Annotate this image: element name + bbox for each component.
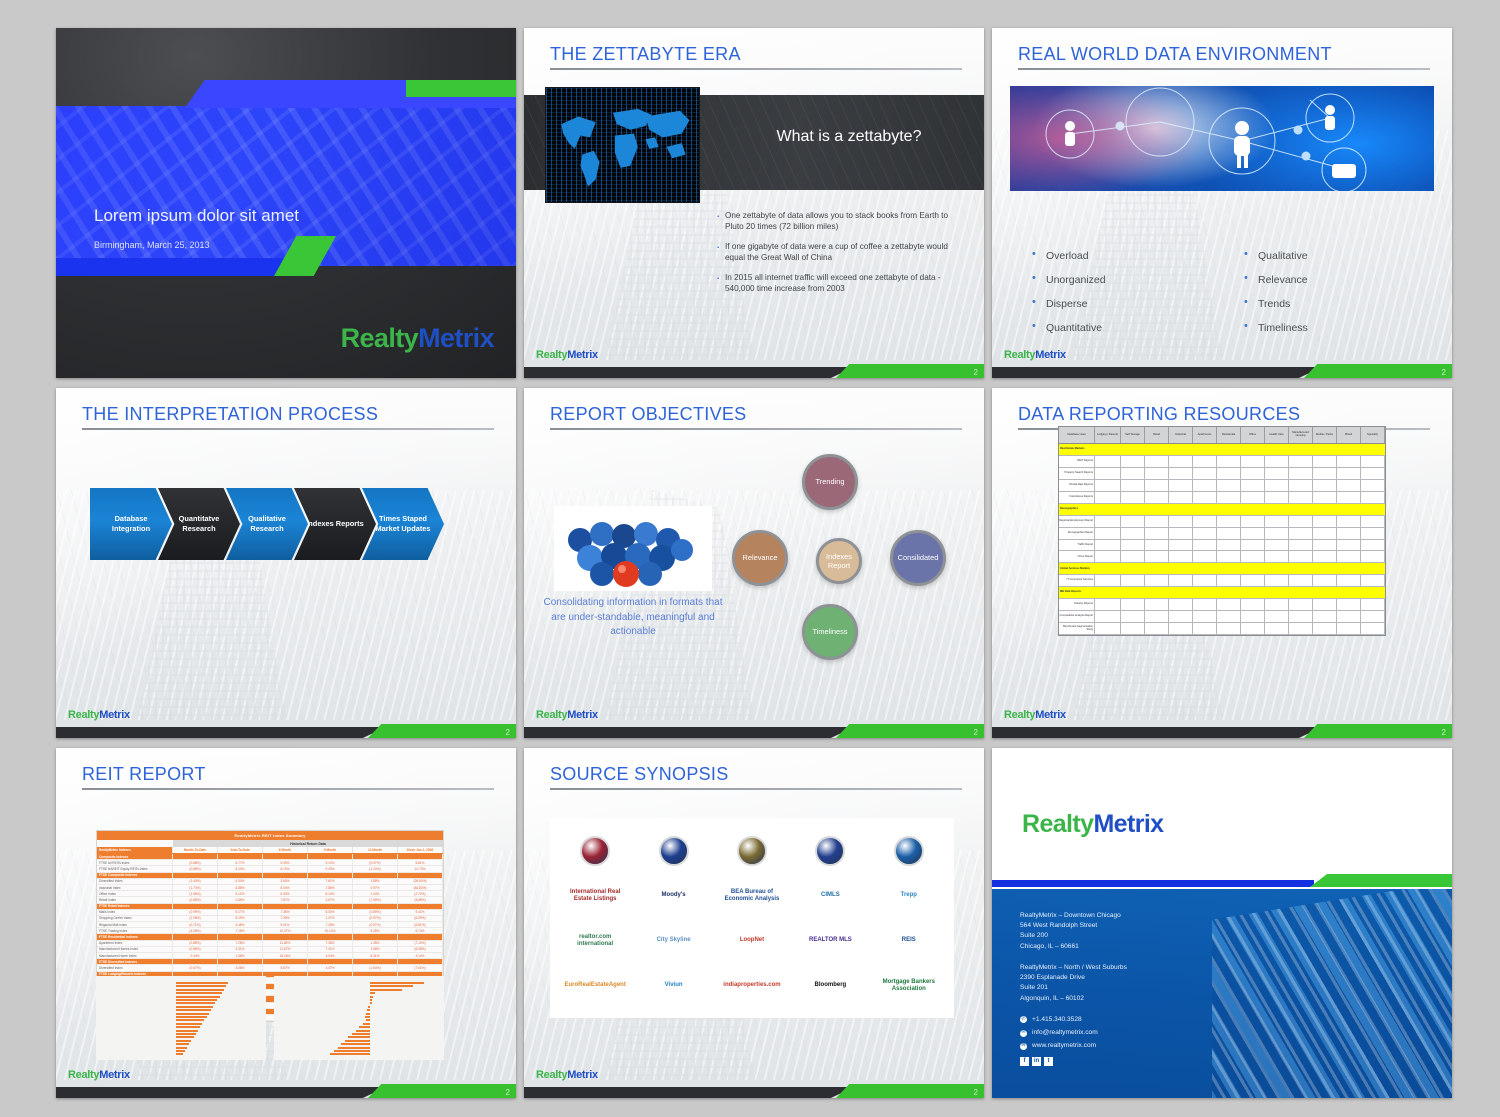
- table-cell[interactable]: [1121, 516, 1145, 527]
- table-cell[interactable]: [1217, 540, 1241, 551]
- table-cell[interactable]: [1337, 611, 1361, 622]
- office-address-suburbs: RealtyMetrix – North / West Suburbs 2390…: [1020, 963, 1127, 1004]
- column-header: Retail: [1145, 427, 1169, 443]
- table-cell[interactable]: [1313, 528, 1337, 539]
- row-label: REIT Reports: [1059, 456, 1095, 467]
- table-cell[interactable]: [1361, 551, 1385, 562]
- phone-icon: ✆: [1020, 1016, 1027, 1023]
- table-cell[interactable]: [1145, 528, 1169, 539]
- table-cell[interactable]: [1289, 528, 1313, 539]
- chart-bar: [370, 989, 402, 991]
- page-number: 2: [506, 1088, 510, 1097]
- world-map-image: [545, 87, 700, 203]
- title-rule: [1018, 68, 1430, 70]
- table-cell[interactable]: [1265, 599, 1289, 610]
- bubble-label: Indexes Report: [819, 552, 859, 571]
- slide-title-text: THE ZETTABYTE ERA: [550, 44, 962, 65]
- table-cell[interactable]: [1241, 492, 1265, 503]
- table-row[interactable]: MB Data Reports: [1059, 587, 1385, 599]
- source-logo: [562, 831, 628, 871]
- footer-logo-metrix: Metrix: [567, 349, 598, 361]
- page-number: 2: [974, 368, 978, 377]
- table-cell[interactable]: [1337, 551, 1361, 562]
- row-label: Crime Report: [1059, 551, 1095, 562]
- office-street: 2390 Esplanade Drive: [1020, 973, 1127, 983]
- office-suite: Suite 201: [1020, 983, 1127, 993]
- table-cell[interactable]: [1265, 528, 1289, 539]
- source-logo: City Skyline: [641, 921, 707, 961]
- bubble-relevance[interactable]: Relevance: [732, 530, 788, 586]
- table-cell[interactable]: [1169, 492, 1193, 503]
- twitter-icon[interactable]: t: [1044, 1057, 1053, 1066]
- table-cell[interactable]: [1145, 456, 1169, 467]
- column-header: Self Storage: [1121, 427, 1145, 443]
- office-citystate: Algonquin, IL – 60102: [1020, 994, 1127, 1004]
- table-cell[interactable]: [1337, 468, 1361, 479]
- table-cell[interactable]: [1337, 456, 1361, 467]
- green-wedge-accent: [1310, 874, 1452, 887]
- table-cell[interactable]: [1169, 575, 1193, 586]
- slide-data-reporting-resources[interactable]: DATA REPORTING RESOURCES Database UsesLo…: [992, 388, 1452, 738]
- table-cell[interactable]: [1145, 575, 1169, 586]
- table-cell[interactable]: [1217, 599, 1241, 610]
- table-row[interactable]: Crime Report: [1059, 551, 1385, 563]
- table-cell[interactable]: [1265, 611, 1289, 622]
- table-cell[interactable]: [1289, 623, 1313, 634]
- footer-dark-wedge: [524, 727, 854, 738]
- slide-title[interactable]: Lorem ipsum dolor sit amet Birmingham, M…: [56, 28, 516, 378]
- table-cell[interactable]: [1289, 492, 1313, 503]
- title-blue-accent-bottom: [56, 258, 308, 276]
- table-cell[interactable]: [1313, 480, 1337, 491]
- table-cell[interactable]: [1337, 528, 1361, 539]
- page-number: 2: [974, 1088, 978, 1097]
- table-cell[interactable]: [1241, 575, 1265, 586]
- page-number: 2: [506, 728, 510, 737]
- source-logo: BEA Bureau of Economic Analysis: [719, 876, 785, 916]
- attribute-columns: Overload Unorganized Disperse Quantitati…: [1032, 250, 1412, 346]
- table-header-row: Database UsesLodging / ResortsSelf Stora…: [1059, 427, 1385, 444]
- table-cell[interactable]: [1337, 540, 1361, 551]
- table-cell[interactable]: [1145, 516, 1169, 527]
- table-cell[interactable]: [1337, 623, 1361, 634]
- slide-footer-bar: 2: [56, 1084, 516, 1098]
- slide-footer-bar: 2: [992, 364, 1452, 378]
- chart-bar: [176, 996, 220, 998]
- contact-website[interactable]: ⌘ www.realtymetrix.com: [1020, 1041, 1127, 1051]
- chart-bar: [176, 985, 226, 987]
- table-cell[interactable]: [1361, 611, 1385, 622]
- table-cell[interactable]: [1217, 575, 1241, 586]
- footer-logo: RealtyMetrix: [1004, 709, 1066, 721]
- table-cell[interactable]: [1241, 551, 1265, 562]
- table-cell[interactable]: [1145, 468, 1169, 479]
- process-step-label: Database Integration: [90, 514, 172, 534]
- bar-chart-right: [274, 976, 444, 1060]
- office-street: 564 West Randolph Street: [1020, 921, 1127, 931]
- slide-footer-bar: 2: [56, 724, 516, 738]
- brand-logo-metrix: Metrix: [418, 323, 494, 353]
- chart-bar: [176, 992, 222, 994]
- list-item: Relevance: [1244, 274, 1412, 286]
- table-row[interactable]: Regional Employment Report: [1059, 516, 1385, 528]
- table-cell[interactable]: [1169, 480, 1193, 491]
- table-cell[interactable]: [1241, 528, 1265, 539]
- table-cell[interactable]: [1121, 599, 1145, 610]
- table-cell[interactable]: [1289, 480, 1313, 491]
- table-cell[interactable]: [1217, 456, 1241, 467]
- table-cell[interactable]: [1361, 468, 1385, 479]
- table-cell[interactable]: [1289, 456, 1313, 467]
- table-cell[interactable]: [1095, 528, 1121, 539]
- chart-bar: [176, 1047, 187, 1049]
- table-cell[interactable]: [1121, 528, 1145, 539]
- list-item: Trends: [1244, 298, 1412, 310]
- footer-green-wedge: [368, 1084, 516, 1098]
- list-item: One zettabyte of data allows you to stac…: [716, 210, 964, 232]
- table-cell[interactable]: [1193, 611, 1217, 622]
- table-cell[interactable]: [1265, 540, 1289, 551]
- table-cell[interactable]: [1145, 623, 1169, 634]
- slide-real-world-data-environment[interactable]: REAL WORLD DATA ENVIRONMENT: [992, 28, 1452, 378]
- contact-phone[interactable]: ✆ +1.415.340.3528: [1020, 1015, 1127, 1025]
- table-cell[interactable]: [1361, 480, 1385, 491]
- table-cell[interactable]: [1289, 468, 1313, 479]
- bubble-indexes-report[interactable]: Indexes Report: [816, 538, 862, 584]
- table-cell[interactable]: [1193, 528, 1217, 539]
- slide-contact[interactable]: RealtyMetrix RealtyMetrix – Downtown Chi…: [992, 748, 1452, 1098]
- source-logo: Viviun: [641, 966, 707, 1006]
- row-label: Global Services Markets: [1059, 563, 1095, 574]
- footer-dark-wedge: [524, 367, 854, 378]
- table-cell[interactable]: [1265, 468, 1289, 479]
- row-label: Demographics: [1059, 504, 1095, 515]
- table-cell[interactable]: [1121, 551, 1145, 562]
- row-label: Demographics Report: [1059, 528, 1095, 539]
- facebook-icon[interactable]: f: [1020, 1057, 1029, 1066]
- table-cell[interactable]: [1217, 528, 1241, 539]
- table-row[interactable]: Demographics: [1059, 504, 1385, 516]
- table-cell[interactable]: [1145, 480, 1169, 491]
- table-cell[interactable]: [1265, 575, 1289, 586]
- table-row[interactable]: Traffic Report: [1059, 540, 1385, 552]
- table-cell[interactable]: [1241, 540, 1265, 551]
- table-cell[interactable]: [1095, 456, 1121, 467]
- slide-zettabyte-era[interactable]: THE ZETTABYTE ERA What is a zettabyte? O…: [524, 28, 984, 378]
- table-cell[interactable]: [1193, 540, 1217, 551]
- column-header: Since Jan 1, 2008: [398, 847, 443, 853]
- table-cell[interactable]: [1361, 599, 1385, 610]
- page-subtitle: Birmingham, March 25, 2013: [94, 240, 210, 250]
- brand-logo-realty: Realty: [341, 323, 418, 353]
- table-cell[interactable]: [1145, 599, 1169, 610]
- table-cell[interactable]: [1241, 456, 1265, 467]
- attribute-column-right: Qualitative Relevance Trends Timeliness: [1244, 250, 1412, 346]
- table-cell[interactable]: [1193, 516, 1217, 527]
- table-cell[interactable]: [1313, 611, 1337, 622]
- chart-bar: [367, 1009, 370, 1011]
- table-cell[interactable]: [1265, 551, 1289, 562]
- title-rule: [82, 788, 494, 790]
- table-cell[interactable]: [1313, 492, 1337, 503]
- slide-report-objectives[interactable]: REPORT OBJECTIVES Consolidating informat…: [524, 388, 984, 738]
- title-rule: [550, 788, 962, 790]
- resources-matrix-table[interactable]: Database UsesLodging / ResortsSelf Stora…: [1058, 426, 1386, 636]
- table-cell[interactable]: [1265, 623, 1289, 634]
- process-step-1[interactable]: Database Integration: [90, 488, 172, 560]
- table-cell[interactable]: [1241, 599, 1265, 610]
- table-cell[interactable]: [1217, 623, 1241, 634]
- slide-source-synopsis[interactable]: SOURCE SYNOPSIS International Real Estat…: [524, 748, 984, 1098]
- table-cell[interactable]: [1169, 611, 1193, 622]
- table-cell[interactable]: [1361, 528, 1385, 539]
- table-cell[interactable]: [1169, 551, 1193, 562]
- table-cell[interactable]: [1121, 468, 1145, 479]
- table-row[interactable]: Foreclosure Reports: [1059, 492, 1385, 504]
- table-cell[interactable]: [1337, 480, 1361, 491]
- table-row[interactable]: IT Commerce Services: [1059, 575, 1385, 587]
- table-cell[interactable]: [1121, 456, 1145, 467]
- process-step-label: Indexes Reports: [300, 519, 370, 529]
- slide-deck-grid: Lorem ipsum dolor sit amet Birmingham, M…: [0, 0, 1500, 1098]
- brand-logo-metrix: Metrix: [1093, 810, 1163, 838]
- row-label: Comparative Analysis Report: [1059, 611, 1095, 622]
- table-cell[interactable]: [1217, 480, 1241, 491]
- brand-logo: RealtyMetrix: [1022, 810, 1163, 839]
- table-cell[interactable]: [1145, 492, 1169, 503]
- table-cell[interactable]: [1193, 623, 1217, 634]
- footer-logo-realty: Realty: [68, 1069, 99, 1081]
- footer-logo-realty: Realty: [1004, 349, 1035, 361]
- table-cell[interactable]: [1313, 575, 1337, 586]
- table-cell[interactable]: [1337, 599, 1361, 610]
- table-row[interactable]: Global Services Markets: [1059, 563, 1385, 575]
- table-cell[interactable]: [1121, 623, 1145, 634]
- office-citystate: Chicago, IL – 60661: [1020, 942, 1127, 952]
- title-rule: [550, 428, 962, 430]
- chart-bar: [176, 1009, 211, 1011]
- table-cell[interactable]: [1095, 575, 1121, 586]
- table-cell[interactable]: [1289, 516, 1313, 527]
- table-cell[interactable]: [1193, 480, 1217, 491]
- table-cell[interactable]: [1169, 456, 1193, 467]
- table-cell[interactable]: [1193, 456, 1217, 467]
- table-cell[interactable]: [1289, 540, 1313, 551]
- chart-bar: [370, 985, 413, 987]
- table-cell[interactable]: [1169, 516, 1193, 527]
- column-header: 9 Month: [308, 847, 353, 853]
- chart-bar: [176, 1033, 196, 1035]
- brand-logo-realty: Realty: [1022, 810, 1093, 838]
- table-cell[interactable]: [1265, 492, 1289, 503]
- table-cell[interactable]: [1121, 492, 1145, 503]
- table-cell[interactable]: [1361, 575, 1385, 586]
- table-row[interactable]: Property Search Reports: [1059, 468, 1385, 480]
- table-cell[interactable]: [1241, 516, 1265, 527]
- table-cell[interactable]: [1217, 492, 1241, 503]
- table-cell[interactable]: [1145, 611, 1169, 622]
- contact-email[interactable]: ✉ info@realtymetrix.com: [1020, 1028, 1127, 1038]
- table-cell[interactable]: [1361, 516, 1385, 527]
- table-cell[interactable]: [1313, 468, 1337, 479]
- bubble-trending[interactable]: Trending: [802, 454, 858, 510]
- chart-bar: [370, 1002, 372, 1004]
- table-cell[interactable]: [1169, 623, 1193, 634]
- table-row[interactable]: Real Estate Markets: [1059, 444, 1385, 456]
- table-cell[interactable]: [1241, 611, 1265, 622]
- source-logo: Mortgage Bankers Association: [876, 966, 942, 1006]
- table-cell[interactable]: [1095, 551, 1121, 562]
- headline-question: What is a zettabyte?: [724, 128, 974, 146]
- table-cell[interactable]: [1169, 540, 1193, 551]
- chart-bar: [176, 982, 228, 984]
- table-cell[interactable]: [1241, 623, 1265, 634]
- table-cell[interactable]: [1121, 540, 1145, 551]
- footer-logo-metrix: Metrix: [567, 709, 598, 721]
- table-cell[interactable]: [1313, 456, 1337, 467]
- table-cell[interactable]: [1193, 551, 1217, 562]
- footer-logo: RealtyMetrix: [536, 1069, 598, 1081]
- bubble-label: Trending: [816, 477, 845, 486]
- slide-reit-report[interactable]: REIT REPORT RealtyMetrix REIT Index Summ…: [56, 748, 516, 1098]
- table-cell[interactable]: [1145, 551, 1169, 562]
- table-cell[interactable]: [1361, 540, 1385, 551]
- slide-interpretation-process[interactable]: THE INTERPRETATION PROCESS Database Inte…: [56, 388, 516, 738]
- footer-logo-realty: Realty: [536, 709, 567, 721]
- column-header: Year-To-Date: [218, 847, 263, 853]
- table-cell[interactable]: [1361, 492, 1385, 503]
- chart-bar: [341, 1043, 370, 1045]
- table-cell[interactable]: [1337, 516, 1361, 527]
- table-cell[interactable]: [1265, 516, 1289, 527]
- table-cell[interactable]: [1217, 468, 1241, 479]
- source-logo: CIMLS: [797, 876, 863, 916]
- table-cell[interactable]: [1217, 611, 1241, 622]
- table-cell[interactable]: [1217, 551, 1241, 562]
- table-cell[interactable]: [1313, 551, 1337, 562]
- contact-email-text: info@realtymetrix.com: [1032, 1028, 1098, 1038]
- table-cell[interactable]: [1193, 492, 1217, 503]
- table-cell[interactable]: [1095, 516, 1121, 527]
- chart-bar: [345, 1040, 370, 1042]
- bubble-timeliness[interactable]: Timeliness: [802, 604, 858, 660]
- chart-bar: [368, 1006, 370, 1008]
- footer-logo: RealtyMetrix: [536, 709, 598, 721]
- page-number: 2: [1442, 368, 1446, 377]
- source-logo: REALTOR MLS: [797, 921, 863, 961]
- table-cell[interactable]: [1095, 623, 1121, 634]
- footer-logo-metrix: Metrix: [567, 1069, 598, 1081]
- chart-bar: [334, 1050, 370, 1052]
- table-cell[interactable]: [1361, 623, 1385, 634]
- table-cell[interactable]: [1289, 575, 1313, 586]
- table-cell[interactable]: [1095, 611, 1121, 622]
- table-cell[interactable]: [1217, 516, 1241, 527]
- table-cell[interactable]: [1241, 480, 1265, 491]
- table-cell[interactable]: [1241, 468, 1265, 479]
- chart-bar: [365, 1016, 370, 1018]
- social-links: f in t: [1020, 1057, 1127, 1066]
- title-green-accent-top: [406, 80, 516, 97]
- table-cell[interactable]: [1313, 599, 1337, 610]
- table-cell[interactable]: [1313, 623, 1337, 634]
- chart-bar: [370, 982, 424, 984]
- glass-building-image: [1212, 889, 1452, 1098]
- chart-bar: [176, 1016, 207, 1018]
- column-header: Manufactured Housing: [1289, 427, 1313, 443]
- chart-bar: [176, 1050, 185, 1052]
- table-row[interactable]: Rental Rate Reports: [1059, 480, 1385, 492]
- list-item: In 2015 all internet traffic will exceed…: [716, 272, 964, 294]
- agency-seal-icon: [580, 836, 610, 866]
- table-row[interactable]: Demographics Report: [1059, 528, 1385, 540]
- office-name: RealtyMetrix – Downtown Chicago: [1020, 911, 1127, 921]
- footer-dark-wedge: [992, 727, 1322, 738]
- table-cell[interactable]: [1095, 492, 1121, 503]
- table-cell[interactable]: [1169, 468, 1193, 479]
- table-cell[interactable]: [1145, 540, 1169, 551]
- table-cell[interactable]: [1095, 599, 1121, 610]
- bubble-consilidated[interactable]: Consilidated: [890, 530, 946, 586]
- chart-bar: [330, 1053, 370, 1055]
- table-cell[interactable]: [1361, 456, 1385, 467]
- list-item: Quantitative: [1032, 322, 1200, 334]
- footer-logo-metrix: Metrix: [1035, 349, 1066, 361]
- table-cell[interactable]: [1313, 540, 1337, 551]
- linkedin-icon[interactable]: in: [1032, 1057, 1041, 1066]
- table-cell[interactable]: [1193, 575, 1217, 586]
- table-cell[interactable]: [1095, 468, 1121, 479]
- table-cell[interactable]: [1193, 468, 1217, 479]
- column-header: Mixed: [1337, 427, 1361, 443]
- table-cell[interactable]: [1169, 528, 1193, 539]
- table-cell[interactable]: [1265, 480, 1289, 491]
- table-row[interactable]: Industry Reports: [1059, 599, 1385, 611]
- chart-bar: [366, 1013, 370, 1015]
- globe-icon: ⌘: [1020, 1043, 1027, 1050]
- table-row[interactable]: Benchmark Segmentation Study: [1059, 623, 1385, 635]
- table-cell[interactable]: [1337, 575, 1361, 586]
- chart-bar: [366, 1019, 370, 1021]
- table-cell[interactable]: [1337, 492, 1361, 503]
- table-cell[interactable]: [1169, 599, 1193, 610]
- table-row[interactable]: Comparative Analysis Report: [1059, 611, 1385, 623]
- footer-green-wedge: [1304, 724, 1452, 738]
- table-cell[interactable]: [1095, 540, 1121, 551]
- table-cell[interactable]: [1265, 456, 1289, 467]
- source-logo: [876, 831, 942, 871]
- slide-footer-bar: 2: [524, 364, 984, 378]
- table-cell[interactable]: [1121, 611, 1145, 622]
- bubble-label: Relevance: [743, 553, 778, 562]
- chart-bar: [359, 1026, 370, 1028]
- table-cell[interactable]: [1289, 611, 1313, 622]
- table-cell[interactable]: [1193, 599, 1217, 610]
- table-cell[interactable]: [1121, 575, 1145, 586]
- table-cell[interactable]: [1289, 599, 1313, 610]
- table-cell[interactable]: [1313, 516, 1337, 527]
- footer-logo-realty: Realty: [1004, 709, 1035, 721]
- table-cell[interactable]: [1121, 480, 1145, 491]
- slide-title-text: SOURCE SYNOPSIS: [550, 764, 962, 785]
- table-cell[interactable]: [1095, 480, 1121, 491]
- table-row[interactable]: REIT Reports: [1059, 456, 1385, 468]
- column-header: Mobile / Parks: [1313, 427, 1337, 443]
- row-label: Rental Rate Reports: [1059, 480, 1095, 491]
- footer-dark-wedge: [992, 367, 1322, 378]
- table-cell[interactable]: [1289, 551, 1313, 562]
- chart-bar: [348, 1036, 370, 1038]
